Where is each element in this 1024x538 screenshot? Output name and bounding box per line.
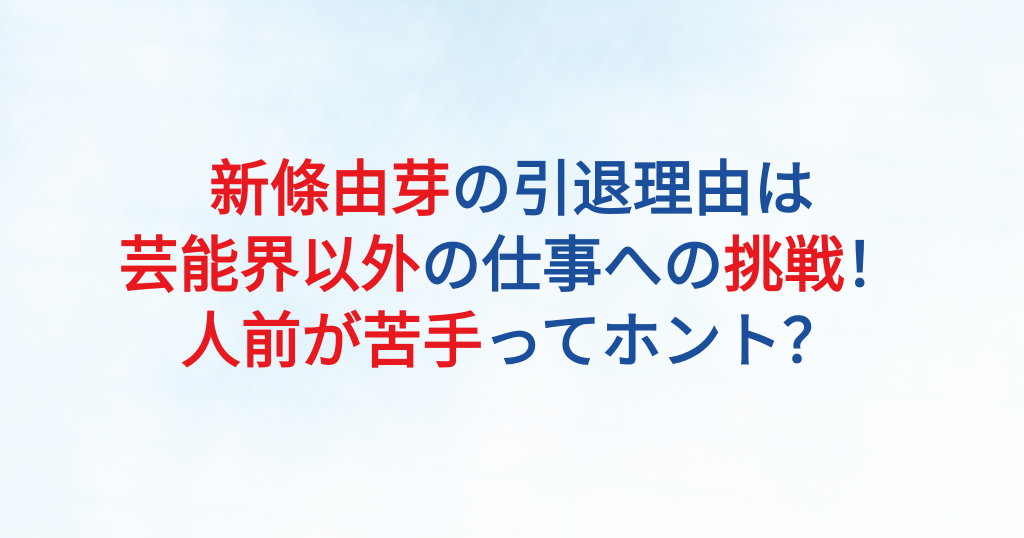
headline-line-1-segment-1: 新條由芽 xyxy=(210,156,452,223)
headline-text-block: 新條由芽の引退理由は 芸能界以外の仕事への挑戦！ 人前が苦手ってホント？ xyxy=(0,152,1024,380)
headline-line-2-segment-4: ！ xyxy=(845,232,906,299)
headline-line-1: 新條由芽の引退理由は xyxy=(0,152,1024,228)
headline-line-2: 芸能界以外の仕事への挑戦！ xyxy=(0,228,1024,304)
headline-line-2-segment-2: の仕事への xyxy=(421,232,724,299)
headline-line-3: 人前が苦手ってホント？ xyxy=(0,304,1024,380)
headline-line-2-segment-1: 芸能界以外 xyxy=(119,232,422,299)
headline-line-1-segment-2: の引退理由は xyxy=(452,156,815,223)
headline-line-3-segment-2: ってホント？ xyxy=(483,308,843,375)
banner-image: 新條由芽の引退理由は 芸能界以外の仕事への挑戦！ 人前が苦手ってホント？ xyxy=(0,0,1024,538)
headline-line-3-segment-1: 人前が苦手 xyxy=(181,308,484,375)
headline-line-2-segment-3: 挑戦 xyxy=(724,232,845,299)
